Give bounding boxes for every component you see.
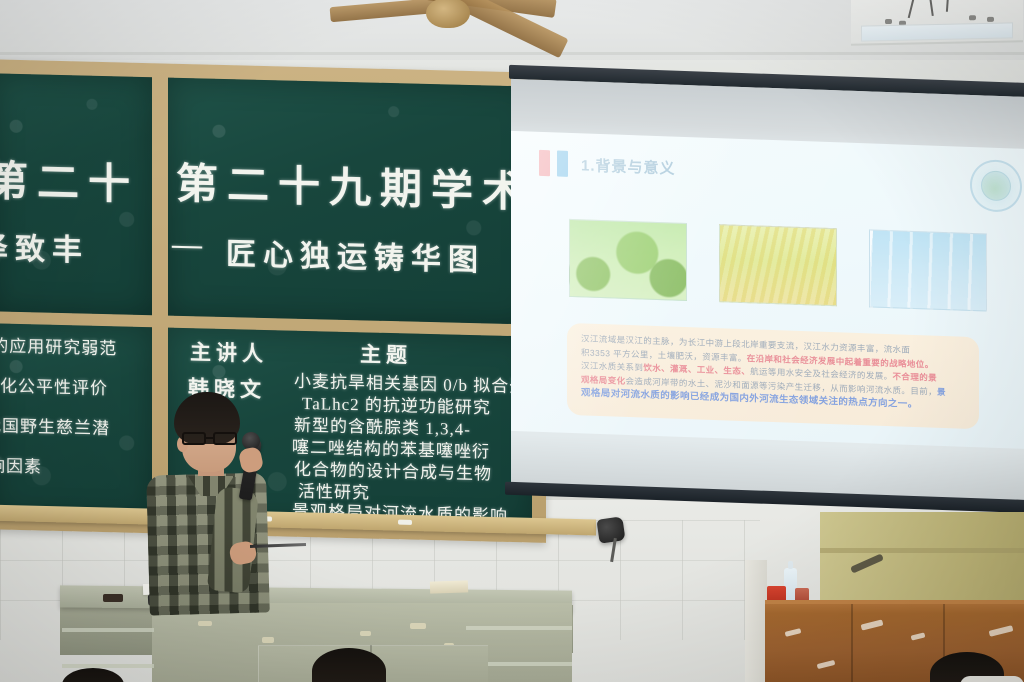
ceiling-fitting bbox=[969, 15, 976, 20]
eyeglass-bridge bbox=[206, 437, 213, 439]
door-shelf bbox=[820, 548, 1024, 553]
ceiling-wire bbox=[929, 0, 934, 16]
forest-vegetation-photo bbox=[569, 219, 687, 301]
ceiling-light-lens bbox=[861, 22, 1013, 41]
classroom-scene: 第二十 泽致丰 第二十九期学术沙龙 — 匠心独运铸华图 上 的应用研究弱范 汉绿… bbox=[0, 0, 1024, 682]
blackboard-panel-top-right: 第二十九期学术沙龙 — 匠心独运铸华图 bbox=[168, 78, 532, 325]
cabinet-scuff bbox=[785, 628, 802, 637]
wall-column bbox=[745, 560, 767, 682]
blackboard-frame: 第二十 泽致丰 第二十九期学术沙龙 — 匠心独运铸华图 上 的应用研究弱范 汉绿… bbox=[0, 59, 546, 543]
cabinet-scuff bbox=[817, 660, 836, 669]
text-segment-highlight: 工业、 bbox=[697, 364, 724, 375]
desk-rail bbox=[62, 628, 154, 632]
crop-field-photo bbox=[719, 224, 837, 306]
blackboard-subline-dash: — bbox=[172, 228, 209, 263]
blackboard-headline-left: 第二十 bbox=[0, 147, 139, 212]
cabinet-scuff bbox=[861, 619, 884, 630]
ceiling-wire bbox=[946, 0, 949, 12]
blackboard-panel-top-left: 第二十 泽致丰 bbox=[0, 73, 152, 315]
text-segment-highlight: 灌溉、 bbox=[670, 363, 697, 374]
text-segment: 目前， bbox=[910, 385, 937, 396]
text-segment: 泥沙和面源等污染产生迁移， bbox=[715, 379, 831, 393]
cabinet-scuff bbox=[911, 632, 926, 640]
screen-surface: 1.背景与意义 汉江流域是汉江的主脉，为长江中游上段北岸重要支流，汉江水力资源丰… bbox=[511, 79, 1024, 501]
desk-scuff bbox=[262, 637, 274, 643]
ceiling-wire bbox=[908, 0, 915, 18]
eyeglasses-icon bbox=[182, 432, 238, 445]
wall-mounted-speaker bbox=[596, 516, 625, 543]
text-segment: 资源丰富。 bbox=[702, 351, 747, 363]
left-panel-line: 测我国野生慈兰潜 bbox=[0, 415, 110, 441]
ceiling-light-unit bbox=[851, 0, 1023, 46]
desk-scuff bbox=[410, 623, 426, 629]
eyeglass-lens bbox=[182, 432, 206, 445]
desk-scuff bbox=[360, 631, 371, 636]
speaker-label: 主讲人 bbox=[190, 336, 268, 368]
text-segment-highlight: 饮水、 bbox=[643, 363, 670, 374]
ceiling-fitting bbox=[885, 19, 892, 24]
text-segment: 汉江水力资源丰富， bbox=[804, 341, 884, 354]
text-segment: 汉江水质关系到 bbox=[581, 360, 643, 372]
text-segment: 从而影响河流水质。 bbox=[830, 383, 910, 396]
presentation-slide: 1.背景与意义 汉江流域是汉江的主脉，为长江中游上段北岸重要支流，汉江水力资源丰… bbox=[511, 131, 1024, 449]
topic-label: 主题 bbox=[360, 338, 412, 369]
cabinet-scuff bbox=[989, 625, 1014, 637]
left-panel-line: 影响因素 bbox=[0, 455, 42, 479]
text-segment: 土壤肥沃， bbox=[658, 350, 703, 362]
fan-hub bbox=[426, 0, 470, 28]
blackboard-subline-left: 泽致丰 bbox=[0, 223, 89, 270]
slide-textbox: 汉江流域是汉江的主脉，为长江中游上段北岸重要支流，汉江水力资源丰富，流水面 积3… bbox=[567, 323, 979, 429]
cabinet-seam bbox=[851, 604, 853, 682]
eyeglass-lens bbox=[213, 432, 237, 445]
left-panel-line: 上 的应用研究弱范 bbox=[0, 335, 117, 361]
projection-screen[interactable]: 1.背景与意义 汉江流域是汉江的主脉，为长江中游上段北岸重要支流，汉江水力资源丰… bbox=[509, 65, 1024, 513]
desk-rail bbox=[62, 664, 154, 668]
presenter bbox=[152, 392, 272, 612]
left-panel-line: 汉绿化公平性评价 bbox=[0, 375, 108, 401]
text-segment: 流水面 bbox=[884, 344, 911, 355]
university-seal-logo bbox=[970, 159, 1022, 213]
industrial-plant-photo bbox=[869, 229, 987, 311]
text-segment-emphasis: 景 bbox=[937, 386, 946, 396]
ceiling-fitting bbox=[987, 17, 994, 22]
text-segment: 会造成河岸带的水土、 bbox=[626, 375, 715, 388]
audience-shoulder bbox=[960, 676, 1024, 682]
text-segment: 积3353 平方公里， bbox=[581, 347, 658, 360]
text-segment: 汉江流域是汉江的主脉， bbox=[581, 333, 679, 346]
text-segment-highlight: 观格局变化 bbox=[581, 374, 626, 386]
text-segment-highlight: 生态、 bbox=[723, 365, 750, 376]
text-segment-highlight: 不合理的景 bbox=[893, 371, 938, 383]
blackboard-subline-right: 匠心独运铸华图 bbox=[226, 229, 485, 279]
chalk-box bbox=[430, 580, 468, 593]
desk-rail bbox=[466, 626, 572, 630]
desk-small-object bbox=[103, 594, 123, 602]
blackboard-panel-bottom-left: 上 的应用研究弱范 汉绿化公平性评价 测我国野生慈兰潜 影响因素 bbox=[0, 323, 152, 521]
accent-bar-blue bbox=[557, 151, 568, 177]
ceiling-fan bbox=[330, 0, 560, 58]
desk-scuff bbox=[198, 621, 212, 626]
chalk-stick bbox=[398, 520, 412, 525]
blackboard-headline: 第二十九期学术沙龙 bbox=[176, 150, 532, 222]
slide-title-row: 1.背景与意义 bbox=[539, 150, 676, 181]
slide-title: 1.背景与意义 bbox=[581, 154, 676, 178]
slide-photo-row bbox=[569, 219, 987, 312]
accent-bar-red bbox=[539, 150, 550, 176]
